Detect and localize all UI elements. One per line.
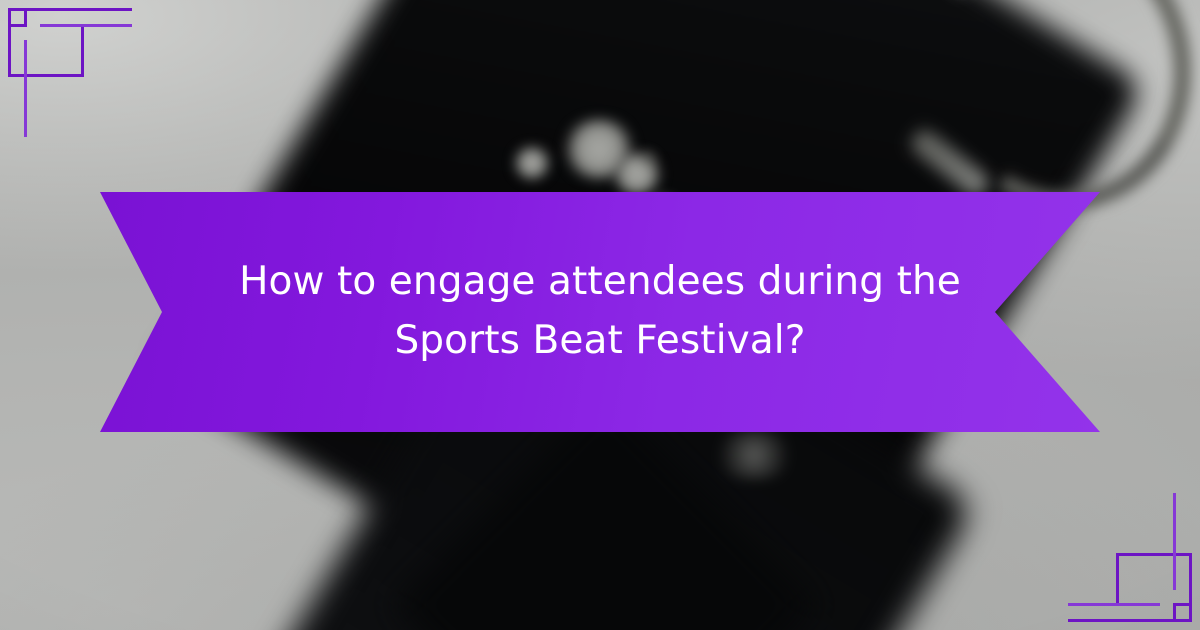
- corner-square-icon: [1173, 603, 1192, 622]
- corner-elbow-vertical: [81, 27, 84, 77]
- corner-inner-line-vertical: [24, 40, 27, 137]
- poster-canvas: How to engage attendees during the Sport…: [0, 0, 1200, 630]
- corner-line-horizontal: [1068, 619, 1173, 622]
- corner-ornament-top-left: [0, 0, 132, 152]
- corner-line-vertical: [1189, 553, 1192, 603]
- corner-elbow-horizontal: [1116, 553, 1192, 556]
- corner-line-horizontal: [27, 8, 132, 11]
- corner-elbow-vertical: [1116, 553, 1119, 603]
- headline-wrapper: How to engage attendees during the Sport…: [220, 252, 980, 373]
- corner-line-vertical: [8, 27, 11, 77]
- corner-elbow-horizontal: [8, 74, 84, 77]
- headline-ribbon: How to engage attendees during the Sport…: [100, 192, 1100, 432]
- corner-inner-line-horizontal: [1068, 603, 1160, 606]
- page-title: How to engage attendees during the Sport…: [220, 252, 980, 371]
- corner-ornament-bottom-right: [1068, 478, 1200, 630]
- corner-square-icon: [8, 8, 27, 27]
- corner-inner-line-horizontal: [40, 24, 132, 27]
- corner-inner-line-vertical: [1173, 493, 1176, 590]
